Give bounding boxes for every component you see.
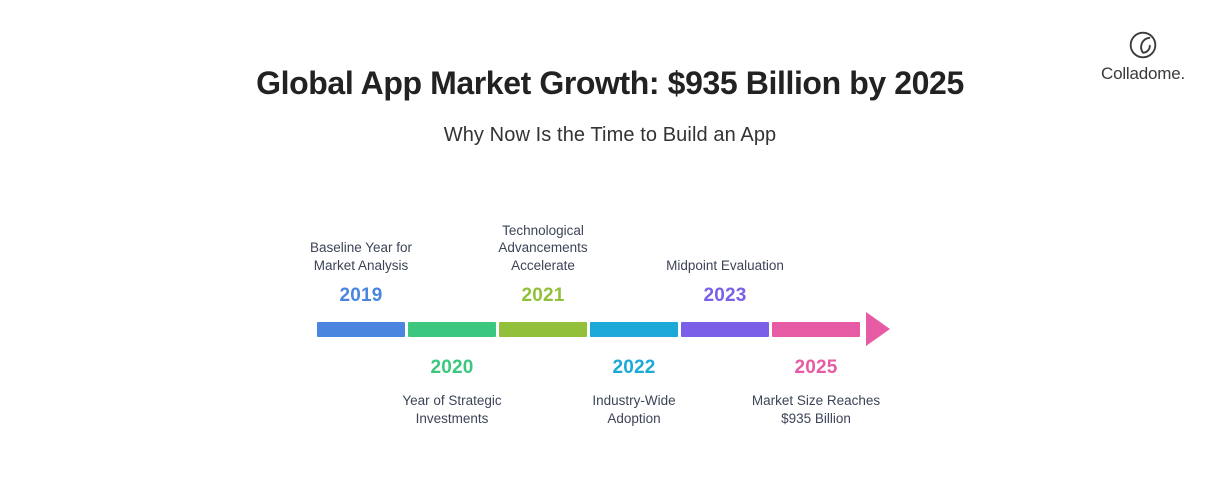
- caption-line: Market Analysis: [266, 257, 456, 275]
- caption-line: Advancements: [448, 239, 638, 257]
- timeline-segment-2020[interactable]: [408, 322, 496, 337]
- timeline-year-label-2023: 2023: [635, 285, 815, 307]
- caption-line: Market Size Reaches: [721, 392, 911, 410]
- timeline-caption-2021: TechnologicalAdvancementsAccelerate: [448, 222, 638, 275]
- caption-line: Accelerate: [448, 257, 638, 275]
- caption-line: Investments: [357, 410, 547, 428]
- infographic-page: Colladome. Global App Market Growth: $93…: [0, 0, 1220, 493]
- timeline-year-label-2020: 2020: [362, 357, 542, 379]
- timeline-segment-2022[interactable]: [590, 322, 678, 337]
- timeline-year-label-2022: 2022: [544, 357, 724, 379]
- timeline-segment-2023[interactable]: [681, 322, 769, 337]
- caption-line: Adoption: [539, 410, 729, 428]
- timeline-arrow-head-icon: [866, 312, 890, 346]
- timeline-caption-2025: Market Size Reaches$935 Billion: [721, 392, 911, 428]
- timeline-segment-2019[interactable]: [317, 322, 405, 337]
- timeline-year-label-2025: 2025: [726, 357, 906, 379]
- timeline: 2019Baseline Year forMarket Analysis2020…: [0, 0, 1220, 493]
- timeline-segment-2025[interactable]: [772, 322, 860, 337]
- caption-line: Midpoint Evaluation: [630, 257, 820, 275]
- timeline-caption-2022: Industry-WideAdoption: [539, 392, 729, 428]
- timeline-caption-2020: Year of StrategicInvestments: [357, 392, 547, 428]
- timeline-caption-2023: Midpoint Evaluation: [630, 257, 820, 275]
- caption-line: $935 Billion: [721, 410, 911, 428]
- timeline-year-label-2019: 2019: [271, 285, 451, 307]
- caption-line: Year of Strategic: [357, 392, 547, 410]
- timeline-segment-2021[interactable]: [499, 322, 587, 337]
- caption-line: Baseline Year for: [266, 239, 456, 257]
- caption-line: Industry-Wide: [539, 392, 729, 410]
- caption-line: Technological: [448, 222, 638, 240]
- timeline-caption-2019: Baseline Year forMarket Analysis: [266, 239, 456, 275]
- timeline-year-label-2021: 2021: [453, 285, 633, 307]
